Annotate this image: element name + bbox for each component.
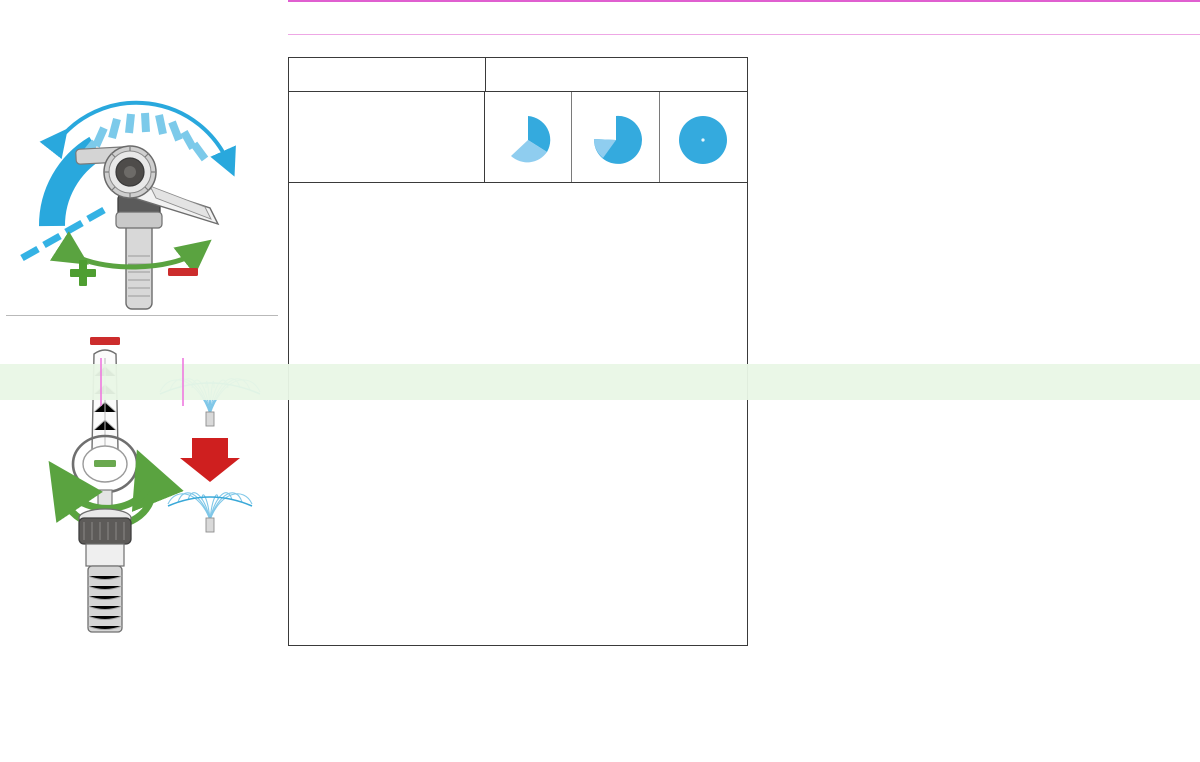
left-illustrations xyxy=(0,56,288,656)
watermark-top-line xyxy=(288,0,1200,2)
pie-sector-90-210-icon xyxy=(501,98,555,182)
watermark-bottom-line xyxy=(288,34,1200,35)
sector-column-90-210 xyxy=(485,92,572,182)
radius-section xyxy=(748,135,1200,646)
pie-circle-360-icon xyxy=(676,98,730,182)
sector-subheader-row xyxy=(289,92,747,183)
arc-adjustment-illustration xyxy=(0,86,288,311)
table-header-row xyxy=(289,58,747,92)
watermark-highlight-marks xyxy=(100,358,184,406)
subheader-blank xyxy=(289,92,485,182)
sector-column-360 xyxy=(660,92,747,182)
sector-column-210-270 xyxy=(572,92,659,182)
illustration-divider xyxy=(6,315,278,316)
header-series xyxy=(289,58,486,91)
infographic-page xyxy=(0,0,1200,762)
header-sector xyxy=(486,58,747,91)
pie-sector-210-270-icon xyxy=(589,98,643,182)
nozzle-table xyxy=(288,57,748,646)
